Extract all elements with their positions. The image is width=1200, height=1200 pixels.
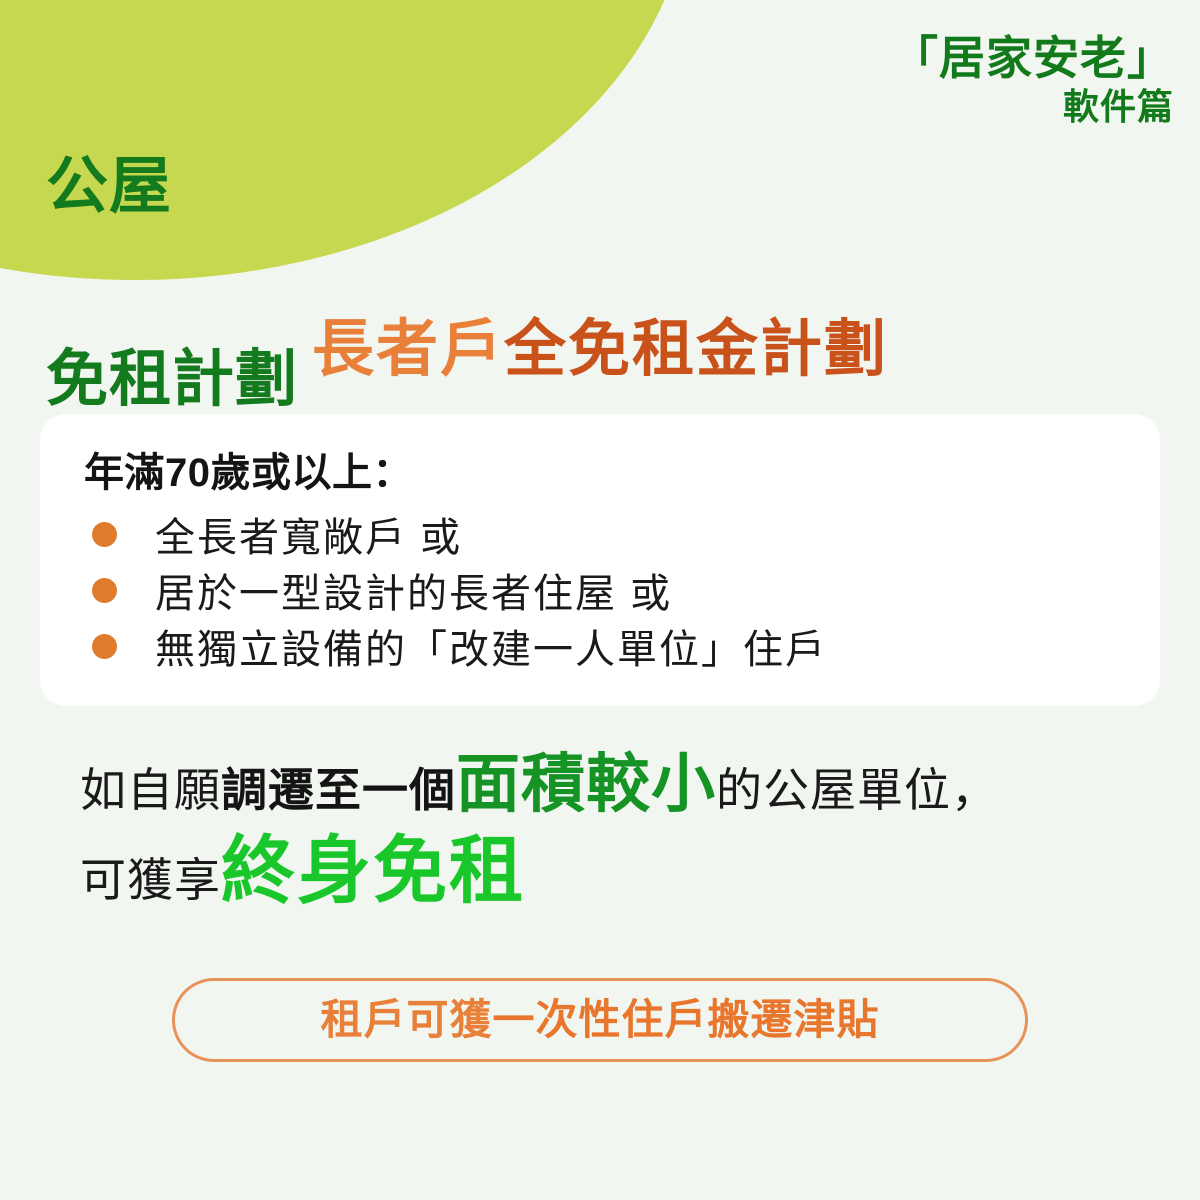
- allowance-pill-text: 租戶可獲一次性住戶搬遷津貼: [320, 999, 879, 1041]
- benefit-statement-line-1: 如自願調遷至一個面積較小的公屋單位，: [0, 752, 1200, 816]
- poster-root: 公屋 免租計劃 「居家安老」 軟件篇 長者戶全免租金計劃 年滿70歲或以上： 全…: [0, 0, 1200, 1200]
- list-item: 無獨立設備的「改建一人單位」住戶: [92, 618, 1140, 674]
- eligibility-card: 年滿70歲或以上： 全長者寬敞戶 或 居於一型設計的長者住屋 或 無獨立設備的「…: [40, 414, 1160, 706]
- list-item-label: 居於一型設計的長者住屋 或: [155, 561, 672, 619]
- benefit-statement: 如自願調遷至一個面積較小的公屋單位， 可獲享終身免租: [0, 752, 1200, 908]
- list-item-label: 全長者寬敞戶 或: [155, 505, 462, 563]
- list-item-label: 無獨立設備的「改建一人單位」住戶: [155, 617, 827, 675]
- statement-highlight-lifetime-free-rent: 終身免租: [221, 829, 525, 912]
- kicker-main-label: 「居家安老」: [892, 34, 1174, 84]
- statement-highlight-smaller-area: 面積較小: [456, 748, 716, 820]
- section-heading-part-2: 全免租金計劃: [504, 315, 888, 384]
- statement-plain-end: 的公屋單位，: [716, 764, 998, 816]
- kicker-sub-label: 軟件篇: [892, 88, 1174, 127]
- allowance-pill-text-bold: 一次性住戶搬遷津貼: [493, 996, 880, 1043]
- brand-title-line-1: 公屋: [46, 155, 298, 219]
- kicker-block: 「居家安老」 軟件篇: [892, 34, 1174, 127]
- bullet-dot-icon: [92, 522, 117, 547]
- list-item: 全長者寬敞戶 或: [92, 506, 1140, 562]
- allowance-pill: 租戶可獲一次性住戶搬遷津貼: [172, 978, 1028, 1062]
- statement-plain-start: 如自願: [80, 764, 221, 816]
- statement-plain-lead: 可獲享: [80, 854, 221, 906]
- bullet-dot-icon: [92, 634, 117, 659]
- section-heading-part-1: 長者戶: [312, 315, 504, 384]
- benefit-statement-line-2: 可獲享終身免租: [0, 834, 1200, 908]
- allowance-pill-text-light: 租戶可獲: [320, 996, 492, 1043]
- eligibility-card-heading: 年滿70歲或以上：: [84, 440, 413, 498]
- list-item: 居於一型設計的長者住屋 或: [92, 562, 1140, 618]
- statement-semibold-phrase: 調遷至一個: [221, 764, 456, 816]
- eligibility-bullet-list: 全長者寬敞戶 或 居於一型設計的長者住屋 或 無獨立設備的「改建一人單位」住戶: [92, 506, 1140, 674]
- bullet-dot-icon: [92, 578, 117, 603]
- section-heading: 長者戶全免租金計劃: [0, 298, 1200, 388]
